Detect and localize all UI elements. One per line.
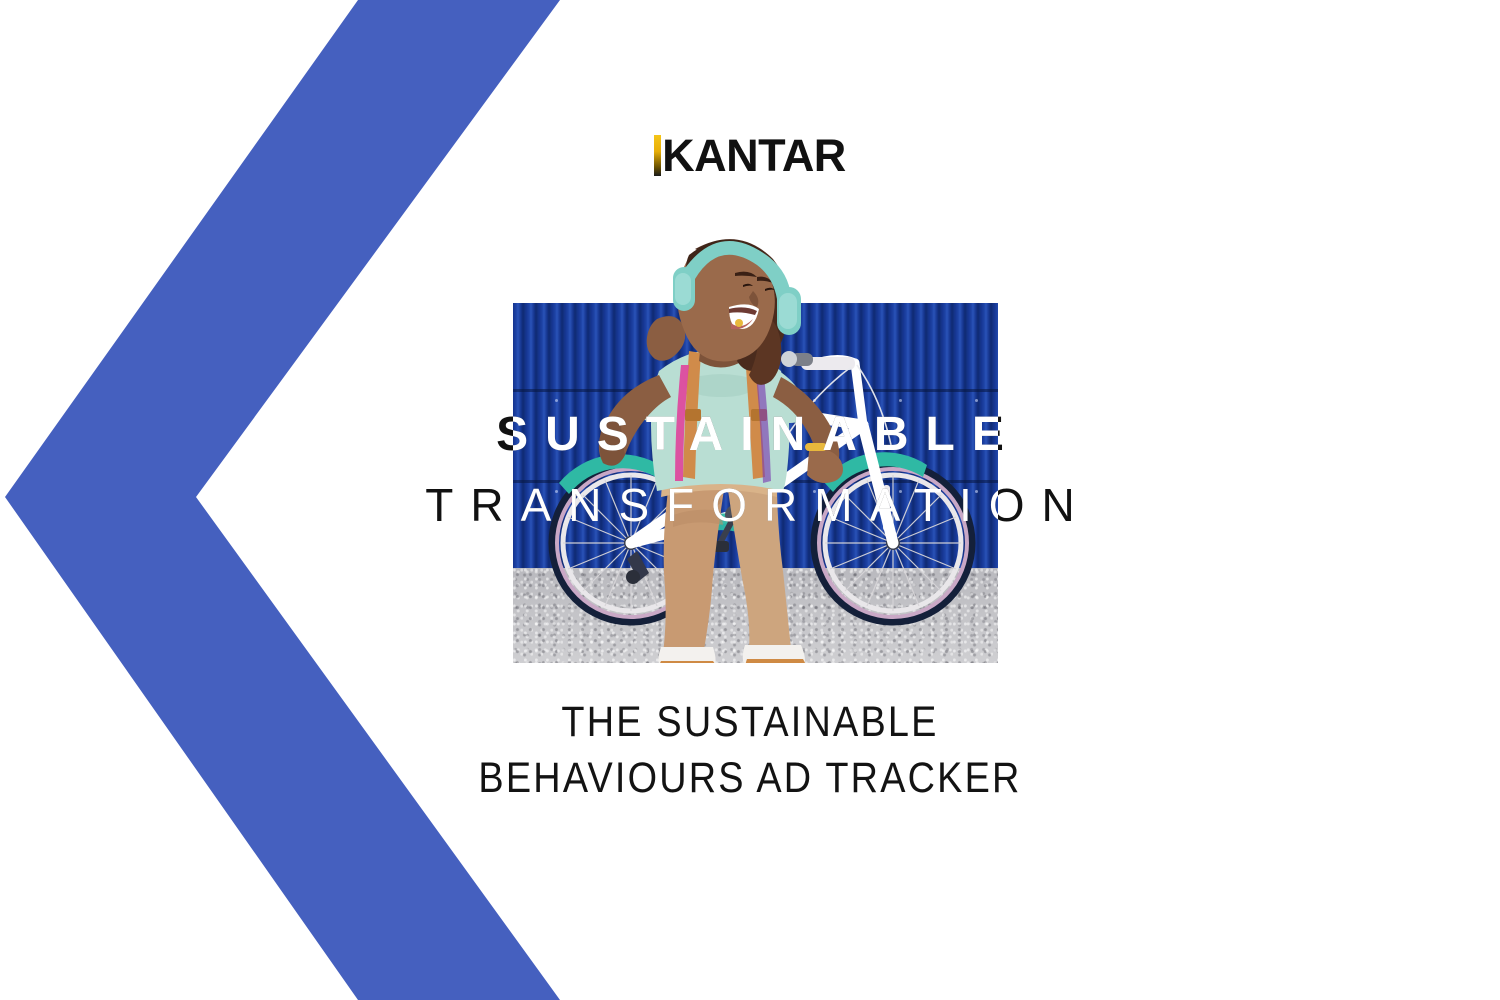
headline-knockout-overlay: SUSTAINABLE TRANSFORMATION <box>513 303 998 663</box>
subtitle-block: THE SUSTAINABLE BEHAVIOURS AD TRACKER <box>0 694 1500 806</box>
subtitle-line-2: BEHAVIOURS AD TRACKER <box>90 750 1410 806</box>
poster-canvas: KANTAR <box>0 0 1500 1000</box>
headline-line-2-over-photo: TRANSFORMATION <box>513 481 998 529</box>
headline-line-1-over-photo: SUSTAINABLE <box>513 411 998 459</box>
subtitle-line-1: THE SUSTAINABLE <box>90 694 1410 750</box>
